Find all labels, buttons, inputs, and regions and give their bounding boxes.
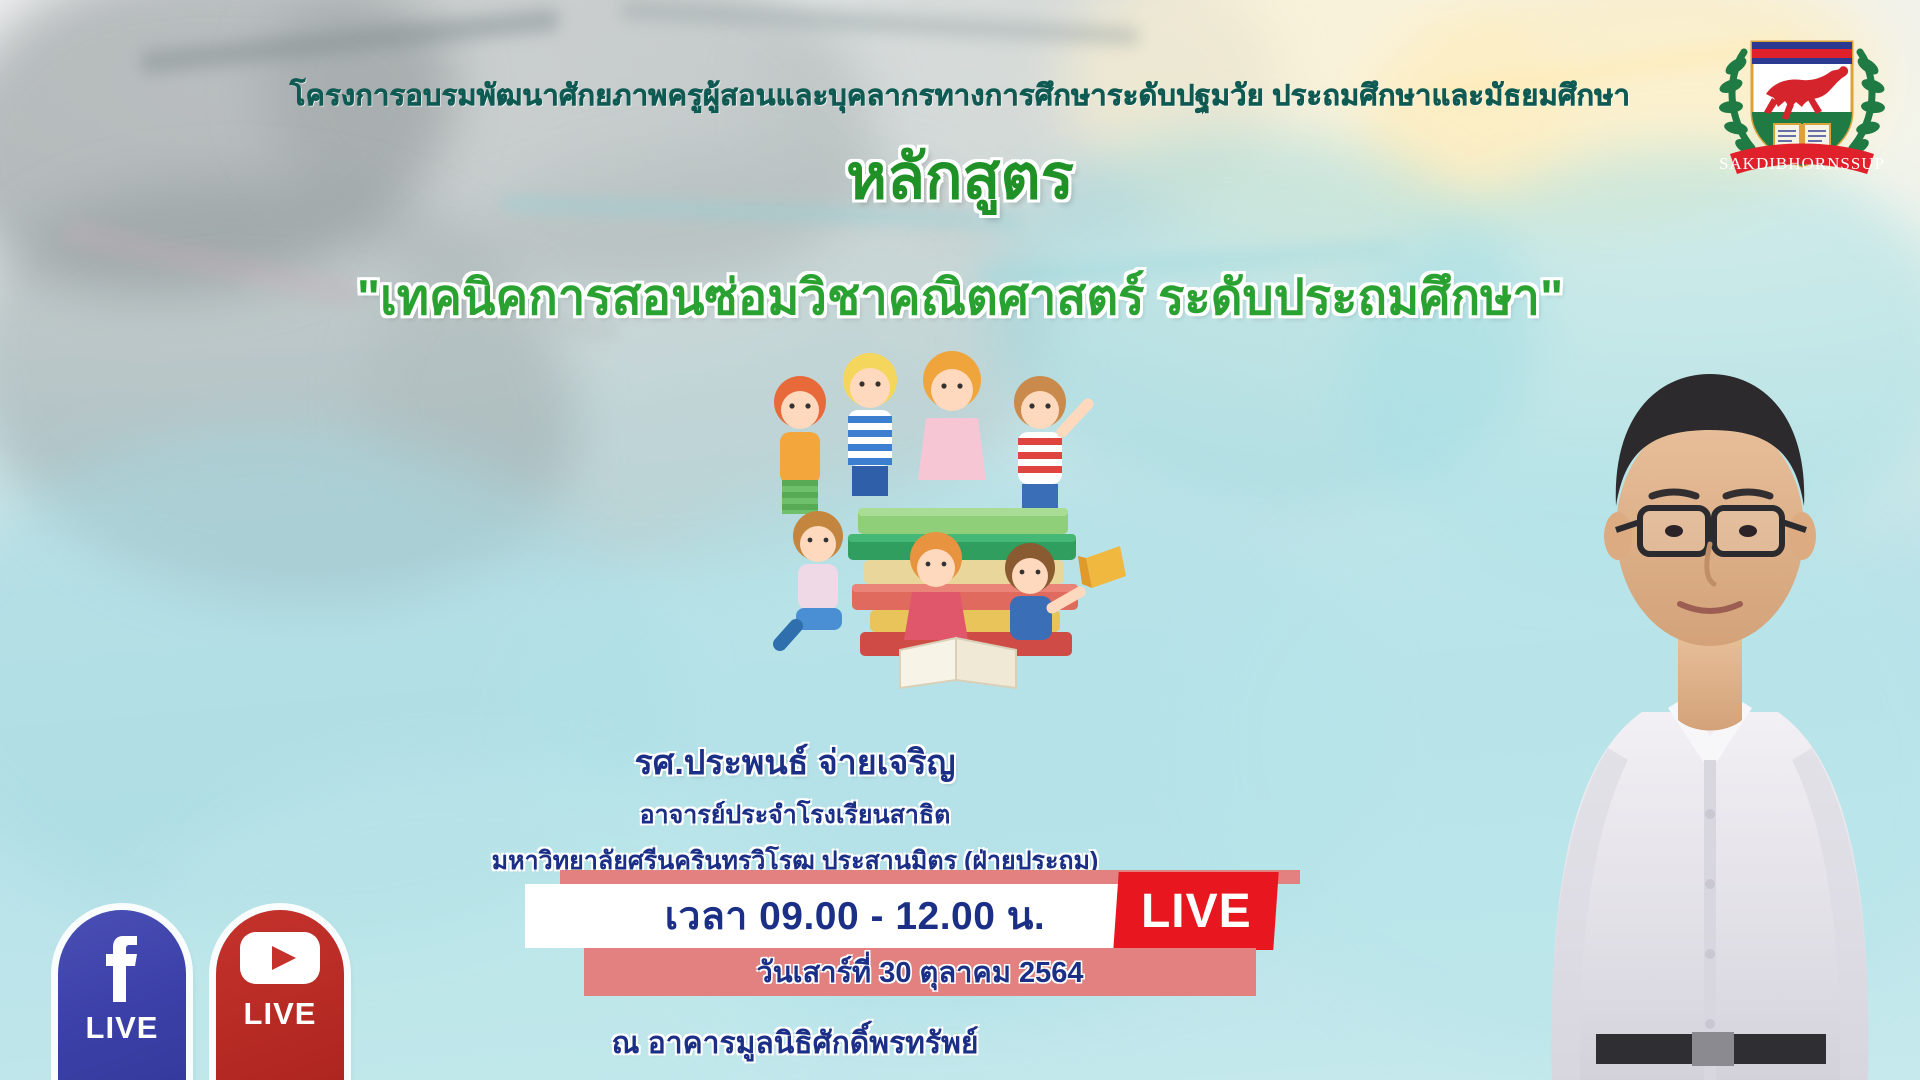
- speaker-name: รศ.ประพนธ์ จ่ายเจริญ: [0, 735, 1590, 789]
- speaker-affiliation-line-1: อาจารย์ประจำโรงเรียนสาธิต: [0, 795, 1590, 835]
- kid-sitting-left: [780, 511, 843, 644]
- time-box: เวลา 09.00 - 12.00 น.: [525, 884, 1185, 948]
- time-text: เวลา 09.00 - 12.00 น.: [665, 885, 1046, 947]
- kid-stripe-shirt: [1014, 376, 1088, 510]
- speaker-photo: [1500, 200, 1920, 1080]
- facebook-live-label: LIVE: [86, 1010, 159, 1046]
- facebook-live-badge[interactable]: LIVE: [58, 910, 186, 1080]
- kid-red-hair: [774, 376, 826, 514]
- speaker-block: รศ.ประพนธ์ จ่ายเจริญ อาจารย์ประจำโรงเรีย…: [0, 735, 1590, 881]
- kid-blonde-striped: [843, 353, 897, 496]
- facebook-f-icon: [93, 926, 151, 1004]
- children-reading-illustration: [740, 340, 1180, 690]
- poster-root: SAKDIBHORNSSUP โครงการอบรมพัฒนาศักยภาพคร…: [0, 0, 1920, 1080]
- youtube-play-icon: [238, 926, 322, 990]
- date-text: วันเสาร์ที่ 30 ตุลาคม 2564: [756, 949, 1083, 995]
- live-badge-chip: LIVE: [1113, 872, 1278, 950]
- program-headline: โครงการอบรมพัฒนาศักยภาพครูผู้สอนและบุคลา…: [0, 72, 1920, 118]
- live-badge-text: LIVE: [1141, 884, 1252, 939]
- youtube-live-badge[interactable]: LIVE: [216, 910, 344, 1080]
- youtube-live-label: LIVE: [244, 996, 317, 1032]
- kid-pink-dress: [918, 351, 986, 480]
- date-band: วันเสาร์ที่ 30 ตุลาคม 2564: [584, 948, 1256, 996]
- side-book-icon: [1078, 546, 1126, 588]
